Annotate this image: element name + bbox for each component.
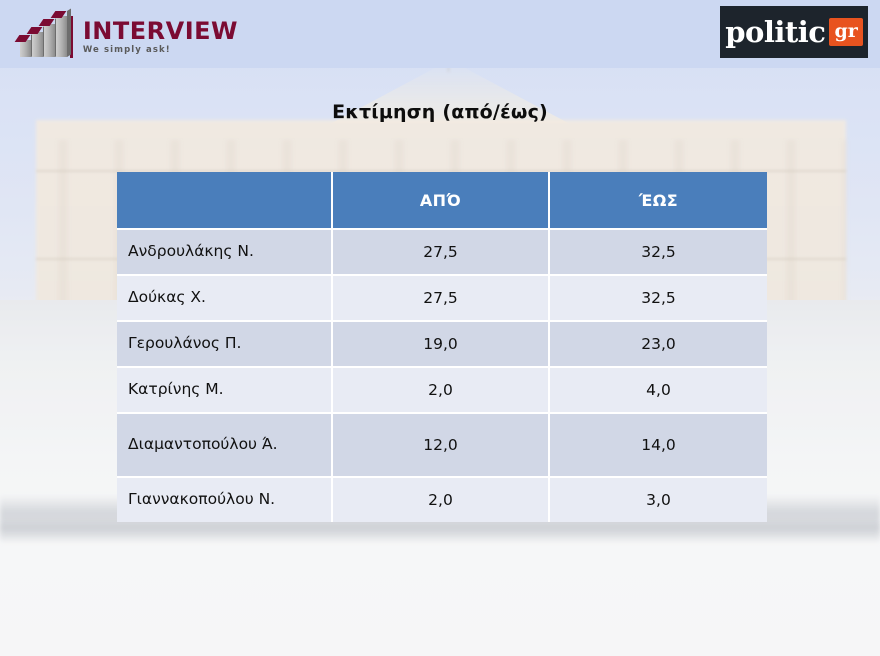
cell-value-from: 2,0 [333,478,550,522]
table-header-row: ΑΠΌ ΈΩΣ [117,172,767,230]
cell-value-to: 4,0 [550,368,767,414]
interview-logo-name: INTERVIEW [83,19,238,43]
cell-value-to: 32,5 [550,276,767,322]
table-body: Ανδρουλάκης Ν. 27,5 32,5 Δούκας Χ. 27,5 … [117,230,767,522]
cell-candidate-name: Κατρίνης Μ. [117,368,333,414]
politic-logo-word: politic [725,18,825,47]
logo-bar-4 [56,16,67,57]
cell-candidate-name: Διαμαντοπούλου Ά. [117,414,333,478]
column-header-from: ΑΠΌ [333,172,550,230]
table-row: Γερουλάνος Π. 19,0 23,0 [117,322,767,368]
cell-value-from: 27,5 [333,276,550,322]
politic-logo-suffix: gr [829,18,862,46]
cell-candidate-name: Γερουλάνος Π. [117,322,333,368]
table-row: Ανδρουλάκης Ν. 27,5 32,5 [117,230,767,276]
cell-value-from: 2,0 [333,368,550,414]
interview-logo: INTERVIEW We simply ask! [18,13,238,61]
column-header-to: ΈΩΣ [550,172,767,230]
cell-value-from: 27,5 [333,230,550,276]
cell-value-to: 14,0 [550,414,767,478]
cell-value-from: 12,0 [333,414,550,478]
cell-value-to: 23,0 [550,322,767,368]
estimate-range-table: ΑΠΌ ΈΩΣ Ανδρουλάκης Ν. 27,5 32,5 Δούκας … [117,172,767,522]
cell-value-from: 19,0 [333,322,550,368]
table-row: Διαμαντοπούλου Ά. 12,0 14,0 [117,414,767,478]
cell-candidate-name: Γιαννακοπούλου Ν. [117,478,333,522]
politic-gr-logo: politic gr [720,6,868,58]
cell-value-to: 32,5 [550,230,767,276]
table-row: Κατρίνης Μ. 2,0 4,0 [117,368,767,414]
cell-candidate-name: Δούκας Χ. [117,276,333,322]
cell-value-to: 3,0 [550,478,767,522]
logo-bar-1 [20,40,31,57]
logo-bar-3 [44,24,55,57]
table-row: Δούκας Χ. 27,5 32,5 [117,276,767,322]
poll-slide: INTERVIEW We simply ask! politic gr Εκτί… [0,0,880,656]
interview-logo-tagline: We simply ask! [83,46,238,55]
interview-logo-text: INTERVIEW We simply ask! [83,19,238,55]
page-title: Εκτίμηση (από/έως) [0,101,880,123]
logo-bar-2 [32,32,43,57]
table-header: ΑΠΌ ΈΩΣ [117,172,767,230]
table-row: Γιαννακοπούλου Ν. 2,0 3,0 [117,478,767,522]
column-header-name [117,172,333,230]
bar-chart-3d-logo-icon [18,15,64,59]
cell-candidate-name: Ανδρουλάκης Ν. [117,230,333,276]
